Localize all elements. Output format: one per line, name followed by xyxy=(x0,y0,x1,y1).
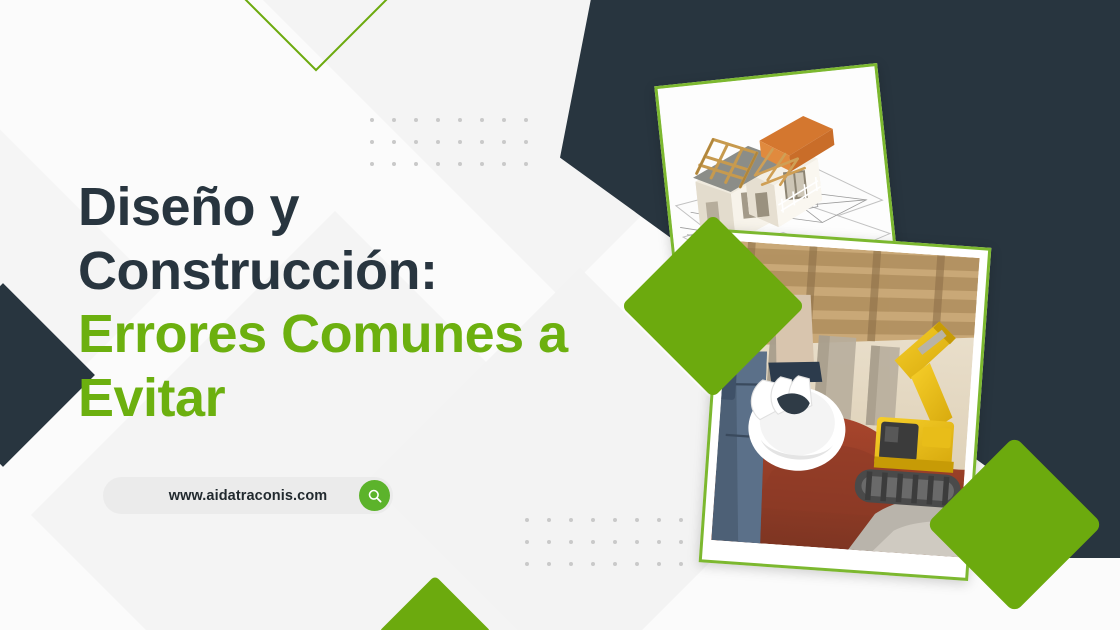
title-line-2: Construcción: xyxy=(78,240,678,304)
page-title: Diseño y Construcción: Errores Comunes a… xyxy=(78,176,678,431)
diamond-accent-icon xyxy=(378,575,491,630)
website-url-pill[interactable]: www.aidatraconis.com xyxy=(103,477,393,514)
title-line-4: Evitar xyxy=(78,367,678,431)
dot-grid-bottom xyxy=(525,518,701,584)
banner-canvas: Diseño y Construcción: Errores Comunes a… xyxy=(0,0,1120,630)
title-line-3: Errores Comunes a xyxy=(78,303,678,367)
search-icon xyxy=(367,488,383,504)
title-line-1: Diseño y xyxy=(78,176,678,240)
diamond-outline-icon xyxy=(209,0,424,71)
search-button[interactable] xyxy=(359,480,390,511)
website-url-text: www.aidatraconis.com xyxy=(169,488,328,504)
dot-grid-top xyxy=(370,118,546,184)
